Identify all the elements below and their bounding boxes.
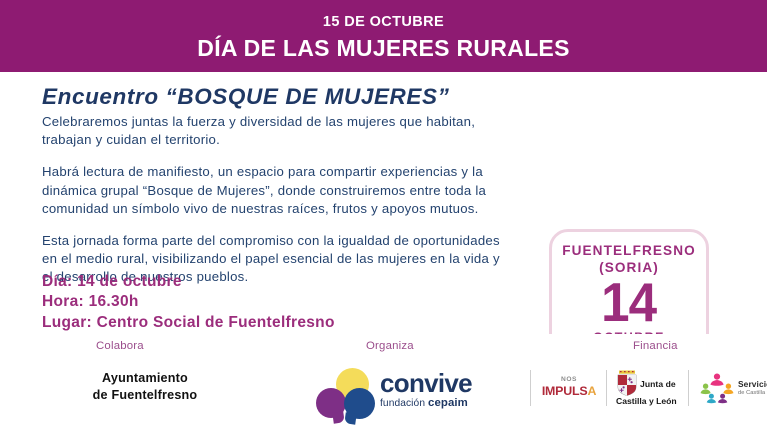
main-text-column: Encuentro “BOSQUE DE MUJERES” Celebrarem… — [42, 84, 512, 287]
convive-wordmark-main: convive — [380, 370, 472, 396]
collaborator-line-2: de Fuentelfresno — [40, 387, 250, 404]
nos-impulsa-top: NOS — [538, 377, 600, 384]
collaborator-name: Ayuntamiento de Fuentelfresno — [40, 370, 250, 404]
detail-day: Día: 14 de octubre — [42, 272, 512, 292]
convive-tagline: fundación cepaim — [380, 398, 472, 409]
servicios-sociales-text: Servicios Sociales de Castilla y León — [738, 380, 767, 396]
speech-bubbles-icon — [316, 368, 378, 416]
footer-label-financia: Financia — [633, 340, 678, 352]
footer-area: Colabora Organiza Financia Ayuntamiento … — [0, 334, 767, 432]
collaborator-line-1: Ayuntamiento — [40, 370, 250, 387]
footer-label-organiza: Organiza — [366, 340, 414, 352]
date-badge-place: FUENTELFRESNO — [562, 243, 696, 260]
event-details-block: Día: 14 de octubre Hora: 16.30h Lugar: C… — [42, 272, 512, 333]
funder-logo-row: NOS IMPULSA — [528, 366, 760, 418]
coat-of-arms-icon — [616, 370, 638, 396]
convive-tagline-light: fundación — [380, 398, 428, 409]
junta-line-1: Junta de — [640, 379, 676, 389]
servicios-sociales-line-1: Servicios Sociales — [738, 380, 767, 389]
header-banner: 15 DE OCTUBRE DÍA DE LAS MUJERES RURALES — [0, 0, 767, 72]
funder-divider-3 — [688, 370, 689, 406]
footer-label-colabora: Colabora — [96, 340, 144, 352]
detail-place: Lugar: Centro Social de Fuentelfresno — [42, 313, 512, 333]
detail-time: Hora: 16.30h — [42, 292, 512, 312]
servicios-sociales-line-2: de Castilla y León — [738, 390, 767, 396]
header-main-title: DÍA DE LAS MUJERES RURALES — [197, 36, 569, 60]
bubble-blue-icon — [344, 388, 375, 419]
junta-line-2: Castilla y León — [616, 396, 682, 406]
footer-label-row: Colabora Organiza Financia — [0, 340, 767, 356]
servicios-sociales-logo: Servicios Sociales de Castilla y León — [700, 372, 767, 408]
convive-wordmark: convive fundación cepaim — [380, 370, 472, 409]
bubble-purple-icon — [316, 388, 346, 418]
nos-impulsa-word: IMPULS — [542, 384, 588, 398]
funder-divider-2 — [606, 370, 607, 406]
nos-impulsa-accent-a: A — [587, 384, 596, 398]
paragraph-1: Celebraremos juntas la fuerza y diversid… — [42, 113, 512, 149]
people-figures-icon — [700, 372, 734, 404]
nos-impulsa-main: IMPULSA — [538, 384, 600, 398]
convive-tagline-bold: cepaim — [428, 397, 468, 409]
funder-divider-1 — [530, 370, 531, 406]
convive-logo: convive fundación cepaim — [316, 364, 491, 420]
paragraph-2: Habrá lectura de manifiesto, un espacio … — [42, 163, 512, 218]
event-title: Encuentro “BOSQUE DE MUJERES” — [42, 84, 512, 110]
nos-impulsa-logo: NOS IMPULSA — [538, 377, 600, 398]
body-area: Encuentro “BOSQUE DE MUJERES” Celebrarem… — [0, 72, 767, 334]
poster-canvas: 15 DE OCTUBRE DÍA DE LAS MUJERES RURALES… — [0, 0, 767, 432]
header-date-kicker: 15 DE OCTUBRE — [323, 15, 444, 31]
date-badge-day: 14 — [601, 277, 656, 328]
